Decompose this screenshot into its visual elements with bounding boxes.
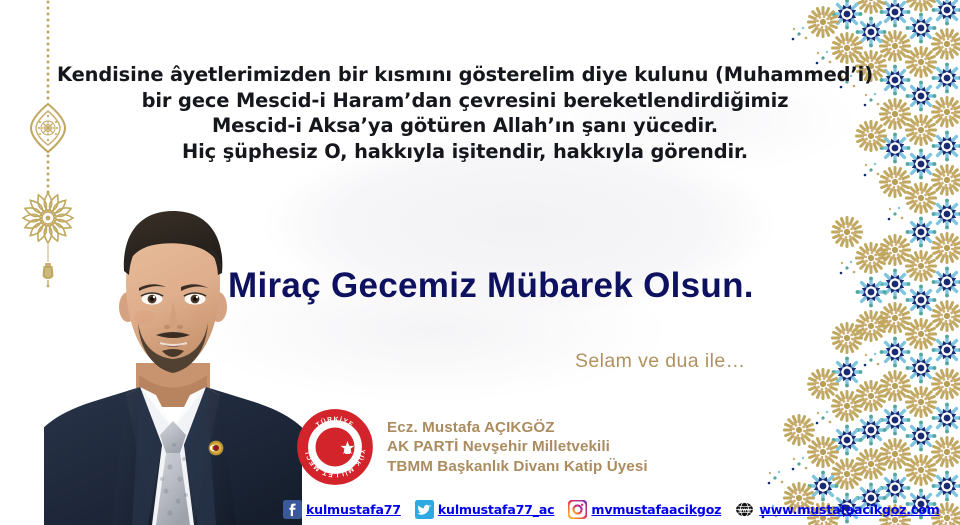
greeting-headline: Miraç Gecemiz Mübarek Olsun.	[228, 266, 754, 306]
portrait-photo	[44, 195, 302, 525]
globe-icon[interactable]: www	[735, 500, 754, 519]
svg-text:www: www	[737, 508, 752, 514]
signature-line-2: AK PARTİ Nevşehir Milletvekili	[387, 437, 648, 457]
social-links-bar: kulmustafa77 kulmustafa77_ac mvmustafaac…	[283, 500, 940, 519]
website-url: www.mustafaacikgoz.com	[759, 502, 939, 517]
twitter-icon[interactable]	[415, 500, 434, 519]
social-link-instagram[interactable]: mvmustafaacikgoz	[568, 500, 735, 519]
tbmm-emblem: TÜRKİYE BÜYÜK MİLLET MECLİSİ	[296, 408, 374, 486]
verse-line-3: Mescid-i Aksa’ya götüren Allah’ın şanı y…	[0, 113, 930, 139]
verse-line-2: bir gece Mescid-i Haram’dan çevresini be…	[0, 88, 930, 114]
social-link-facebook[interactable]: kulmustafa77	[283, 500, 415, 519]
signature-lines: Ecz. Mustafa AÇIKGÖZ AK PARTİ Nevşehir M…	[387, 418, 648, 477]
signature-line-1: Ecz. Mustafa AÇIKGÖZ	[387, 418, 648, 438]
social-link-website[interactable]: www www.mustafaacikgoz.com	[735, 500, 939, 519]
signature-block: TÜRKİYE BÜYÜK MİLLET MECLİSİ Ecz. Mustaf…	[296, 408, 648, 486]
twitter-handle: kulmustafa77_ac	[438, 502, 555, 517]
facebook-icon[interactable]	[283, 500, 302, 519]
instagram-handle: mvmustafaacikgoz	[591, 502, 721, 517]
signature-line-3: TBMM Başkanlık Divanı Katip Üyesi	[387, 457, 648, 477]
instagram-icon[interactable]	[568, 500, 587, 519]
social-link-twitter[interactable]: kulmustafa77_ac	[415, 500, 569, 519]
verse-text: Kendisine âyetlerimizden bir kısmını gös…	[0, 62, 930, 164]
verse-line-4: Hiç şüphesiz O, hakkıyla işitendir, hakk…	[0, 139, 930, 165]
verse-line-1: Kendisine âyetlerimizden bir kısmını gös…	[0, 62, 930, 88]
salutation-text: Selam ve dua ile…	[575, 350, 745, 373]
facebook-handle: kulmustafa77	[306, 502, 401, 517]
